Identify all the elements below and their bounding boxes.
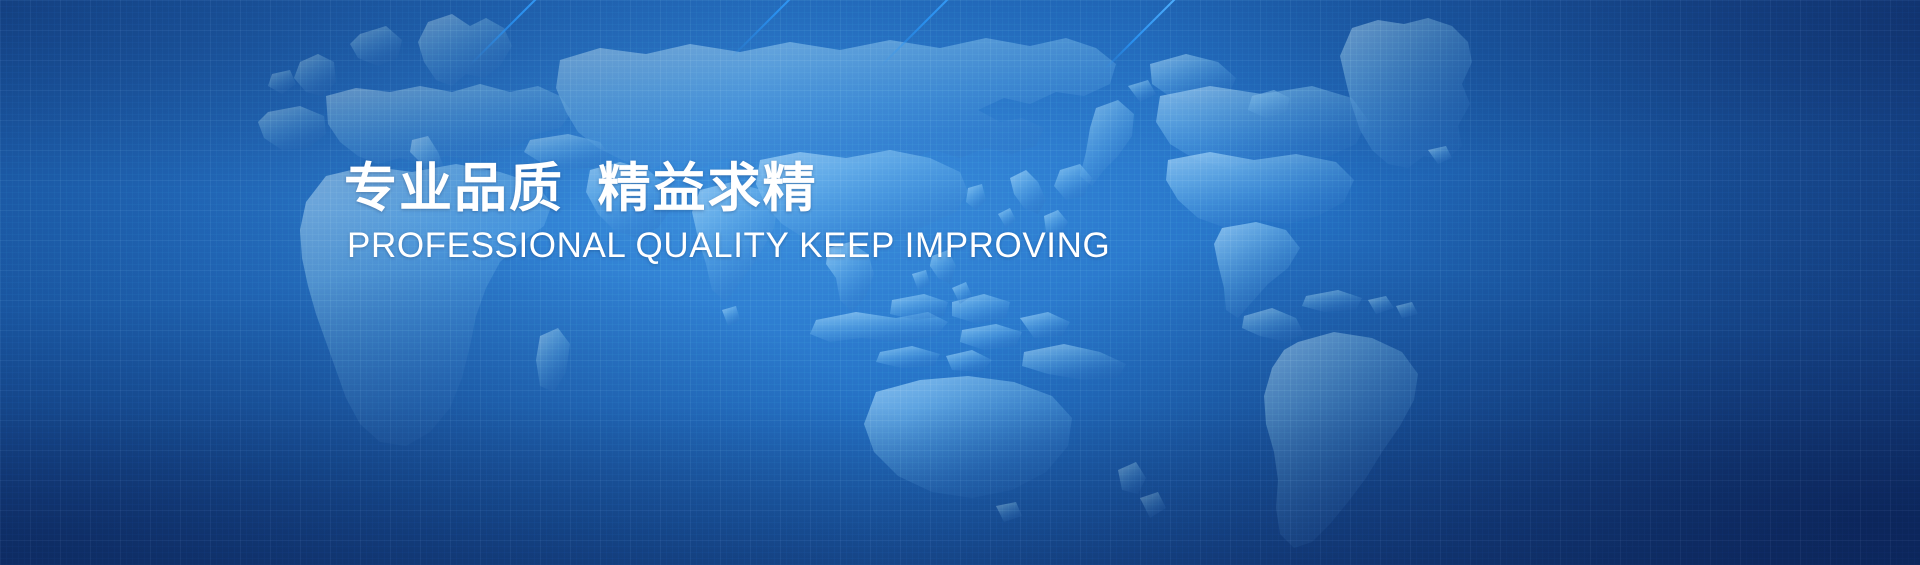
landmass-shapes	[258, 14, 1472, 548]
world-map-graphic	[0, 0, 1920, 565]
headline-chinese: 专业品质 精益求精	[344, 162, 1444, 215]
hero-banner: 专业品质 精益求精 PROFESSIONAL QUALITY KEEP IMPR…	[0, 0, 1920, 565]
headline-english: PROFESSIONAL QUALITY KEEP IMPROVING	[344, 215, 1444, 265]
banner-copy-block: 专业品质 精益求精 PROFESSIONAL QUALITY KEEP IMPR…	[344, 162, 1444, 265]
